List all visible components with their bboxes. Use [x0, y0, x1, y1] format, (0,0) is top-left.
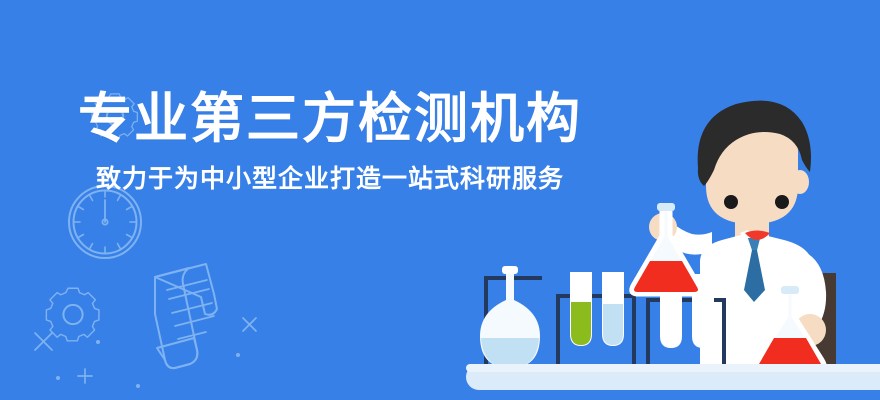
- test-tube-green: [570, 272, 592, 346]
- lab-scientist-illustration: [0, 0, 880, 400]
- page-title: 专业第三方检测机构: [0, 88, 660, 150]
- page-subtitle: 致力于为中小型企业打造一站式科研服务: [0, 164, 660, 194]
- headline-group: 专业第三方检测机构 致力于为中小型企业打造一站式科研服务: [0, 88, 660, 194]
- flask-neck-rim: [502, 266, 518, 274]
- table-surface-highlight: [466, 364, 880, 372]
- eye-right: [775, 195, 789, 209]
- flask-liquid: [481, 338, 539, 368]
- eye-left: [724, 195, 738, 209]
- test-tube-rack-left: [556, 272, 636, 368]
- promo-banner: 专业第三方检测机构 致力于为中小型企业打造一站式科研服务: [0, 0, 880, 400]
- round-bottom-flask-assembly: [480, 266, 542, 368]
- ear: [791, 170, 809, 194]
- test-tube-blue: [602, 272, 624, 346]
